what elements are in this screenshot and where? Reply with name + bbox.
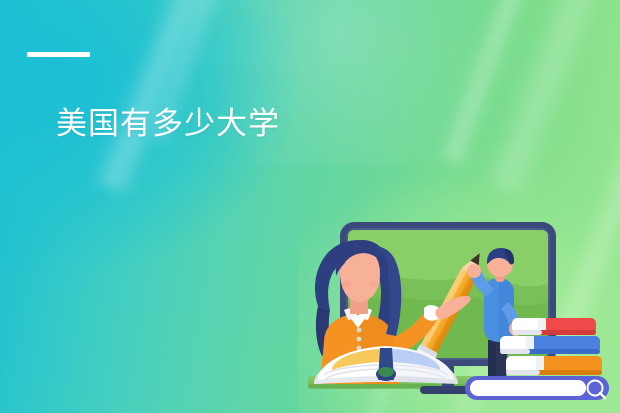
book-stack: [500, 318, 602, 375]
accent-rule: [27, 52, 90, 57]
search-bar[interactable]: [465, 376, 609, 400]
education-illustration-svg: [300, 198, 620, 413]
banner-card: 美国有多少大学: [0, 0, 620, 413]
book-bottom: [506, 356, 602, 375]
book-top: [512, 318, 596, 335]
page-title: 美国有多少大学: [56, 104, 280, 144]
book-middle: [500, 336, 600, 354]
illustration: [300, 198, 620, 413]
